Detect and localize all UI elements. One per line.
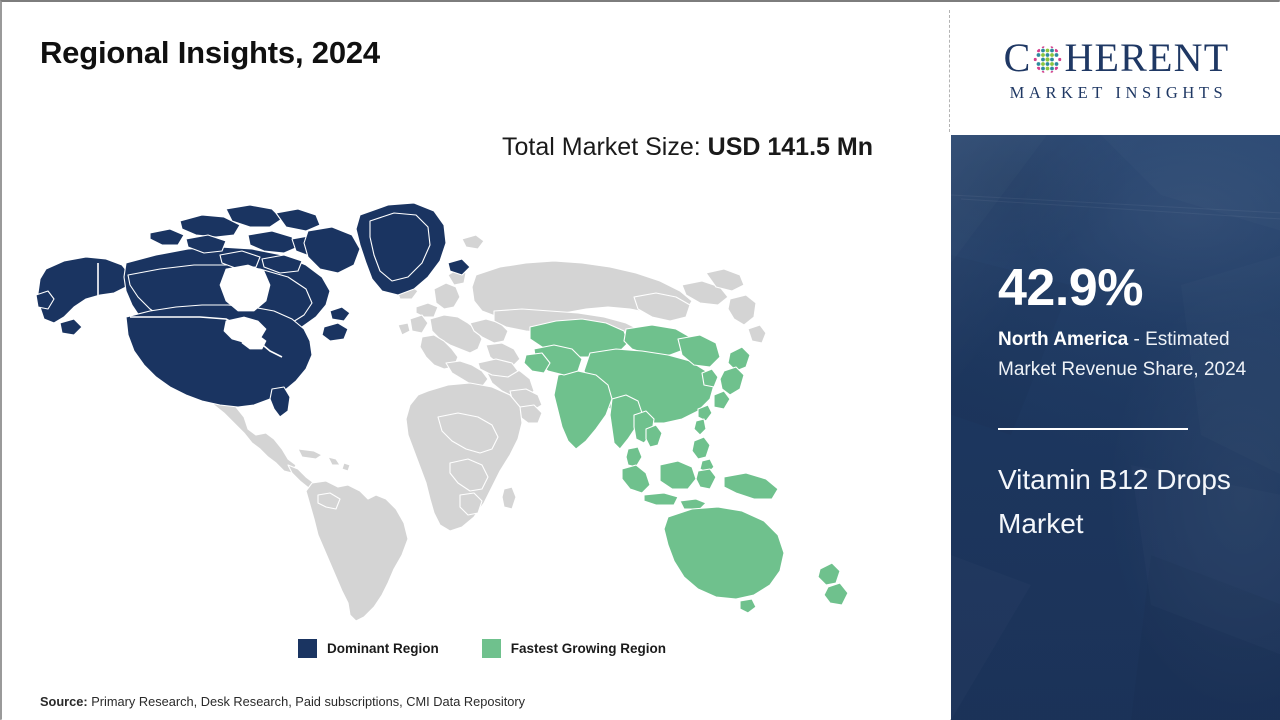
total-market-size: Total Market Size: USD 141.5 Mn bbox=[502, 128, 914, 167]
legend-item-dominant-region: Dominant Region bbox=[298, 639, 439, 658]
market-name: Vitamin B12 Drops Market bbox=[998, 458, 1266, 546]
stat-divider-rule bbox=[998, 428, 1188, 430]
left-panel: Regional Insights, 2024 Total Market Siz… bbox=[2, 2, 950, 720]
map-legend: Dominant Region Fastest Growing Region bbox=[298, 639, 666, 658]
source-label: Source: bbox=[40, 694, 88, 709]
total-market-size-label: Total Market Size: bbox=[502, 133, 708, 161]
legend-label-fastest-growing: Fastest Growing Region bbox=[511, 641, 666, 656]
stat-caption: North America - Estimated Market Revenue… bbox=[998, 325, 1266, 385]
globe-icon bbox=[1032, 42, 1063, 73]
source-text: Primary Research, Desk Research, Paid su… bbox=[88, 694, 525, 709]
logo-wordmark-after: HERENT bbox=[1064, 38, 1229, 78]
legend-label-dominant: Dominant Region bbox=[327, 641, 439, 656]
logo-wordmark-before: C bbox=[1004, 38, 1032, 78]
source-note: Source: Primary Research, Desk Research,… bbox=[40, 694, 525, 709]
legend-swatch-dominant bbox=[298, 639, 317, 658]
world-map-svg bbox=[30, 177, 870, 622]
infographic-root: Regional Insights, 2024 Total Market Siz… bbox=[0, 0, 1280, 720]
total-market-size-value: USD 141.5 Mn bbox=[708, 133, 873, 161]
logo-tagline: MARKET INSIGHTS bbox=[1006, 83, 1228, 103]
panel-divider bbox=[949, 10, 950, 132]
brand-logo: C bbox=[951, 2, 1280, 135]
logo-wordmark: C bbox=[1004, 38, 1230, 78]
stat-panel: 42.9% North America - Estimated Market R… bbox=[951, 135, 1280, 720]
page-title: Regional Insights, 2024 bbox=[40, 35, 380, 71]
stat-value: 42.9% bbox=[998, 262, 1143, 314]
world-map bbox=[30, 177, 870, 622]
stat-caption-region: North America bbox=[998, 329, 1128, 350]
legend-swatch-fastest-growing bbox=[482, 639, 501, 658]
legend-item-fastest-growing-region: Fastest Growing Region bbox=[482, 639, 666, 658]
map-region-asia-pacific bbox=[524, 319, 848, 613]
